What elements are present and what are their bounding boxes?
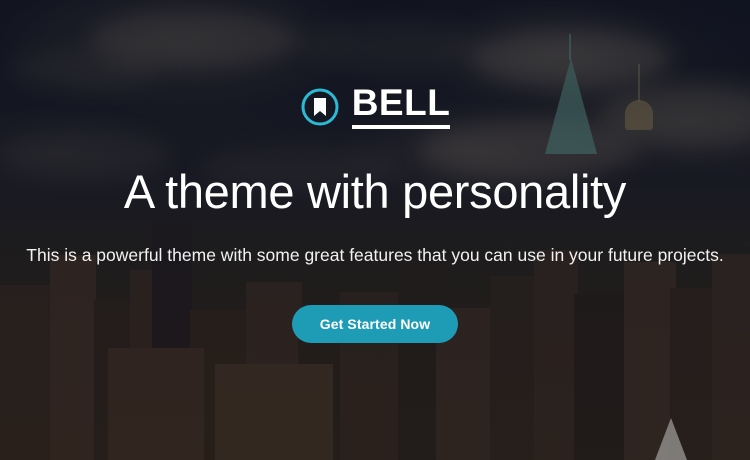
page-title: A theme with personality [124,165,626,219]
get-started-button[interactable]: Get Started Now [292,305,458,343]
hero-section: BELL A theme with personality This is a … [0,0,750,460]
hero-subtitle: This is a powerful theme with some great… [26,243,723,267]
hero-content: BELL A theme with personality This is a … [0,0,750,460]
brand-lockup[interactable]: BELL [300,84,451,129]
brand-name: BELL [352,84,451,122]
bookmark-in-circle-icon [300,87,340,127]
brand-name-wrap: BELL [352,84,451,129]
brand-underline [352,125,451,129]
